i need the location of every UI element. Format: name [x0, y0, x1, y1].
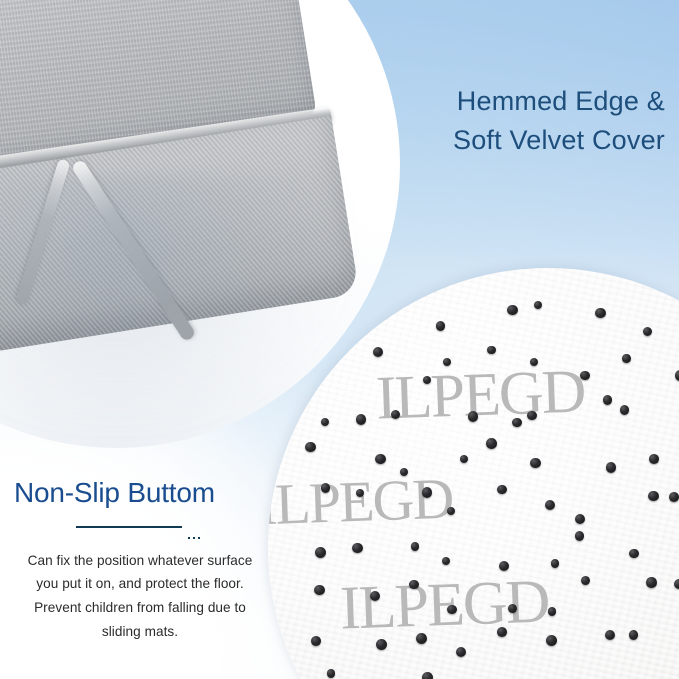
- nonslip-dot: [487, 346, 496, 355]
- nonslip-dot: [507, 305, 518, 316]
- corner-fold-seam-right: [70, 159, 196, 343]
- nonslip-dot: [305, 442, 315, 452]
- nonslip-dot: [530, 358, 539, 367]
- nonslip-dot: [409, 580, 419, 590]
- nonslip-dot: [422, 672, 433, 679]
- nonslip-dot: [375, 454, 386, 465]
- divider-dot: [193, 537, 195, 539]
- nonslip-dot: [356, 414, 367, 425]
- nonslip-dot: [605, 630, 615, 640]
- nonslip-dot: [534, 301, 542, 309]
- feature-body-line: sliding mats.: [14, 620, 266, 644]
- nonslip-dot: [551, 559, 560, 568]
- nonslip-dot: [311, 636, 321, 646]
- nonslip-dot: [314, 585, 325, 596]
- nonslip-dot: [442, 557, 450, 565]
- nonslip-dot: [675, 370, 679, 381]
- nonslip-dot: [447, 605, 456, 614]
- nonslip-dot: [575, 531, 584, 540]
- divider-line: [76, 526, 182, 528]
- divider-dot: [188, 537, 190, 539]
- nonslip-dot: [546, 635, 557, 646]
- nonslip-dot: [575, 514, 585, 524]
- nonslip-dot: [545, 500, 555, 510]
- nonslip-dot: [595, 308, 606, 319]
- nonslip-dot: [460, 455, 468, 463]
- nonslip-dot: [603, 395, 613, 405]
- nonslip-dot: [548, 607, 557, 616]
- nonslip-dot: [422, 487, 432, 497]
- feature-divider: [76, 523, 248, 533]
- nonslip-mat-photo-circle: ILPEGD ILPEGD ILPEGD: [268, 268, 679, 679]
- nonslip-dot: [646, 577, 657, 588]
- nonslip-dot: [530, 458, 541, 469]
- feature-body-line: Prevent children from falling due to: [14, 596, 266, 620]
- nonslip-dot: [486, 438, 497, 449]
- nonslip-dot: [508, 604, 517, 613]
- nonslip-dot: [497, 485, 507, 495]
- nonslip-dot: [376, 639, 387, 650]
- nonslip-dot: [643, 327, 652, 336]
- nonslip-dot: [527, 411, 537, 421]
- nonslip-dot: [620, 405, 630, 415]
- feature-title: Non-Slip Buttom: [14, 478, 266, 509]
- nonslip-dot: [443, 358, 451, 366]
- nonslip-dot: [512, 418, 521, 427]
- nonslip-dot-field: [268, 268, 679, 679]
- nonslip-dot: [315, 547, 326, 558]
- nonslip-dot: [606, 462, 617, 473]
- headline-line-1: Hemmed Edge &: [453, 82, 665, 121]
- nonslip-dot: [411, 542, 420, 551]
- nonslip-dot: [497, 627, 507, 637]
- nonslip-dot: [423, 376, 432, 385]
- headline-line-2: Soft Velvet Cover: [453, 121, 665, 160]
- nonslip-dot: [674, 579, 679, 590]
- nonslip-dot: [327, 669, 336, 678]
- nonslip-dot: [622, 354, 631, 363]
- nonslip-dot: [648, 491, 658, 501]
- feature-body-line: Can fix the position whatever surface: [14, 549, 266, 573]
- nonslip-dot: [581, 576, 590, 585]
- product-infographic: ILPEGD ILPEGD ILPEGD Hemmed Edge & Soft …: [0, 0, 679, 679]
- feature-body-text: Can fix the position whatever surfaceyou…: [14, 549, 266, 644]
- nonslip-dot: [629, 630, 638, 639]
- feature-body-line: you put it on, and protect the floor.: [14, 572, 266, 596]
- nonslip-dot: [456, 647, 466, 657]
- nonslip-dot: [373, 347, 383, 357]
- nonslip-dot: [649, 454, 659, 464]
- headline: Hemmed Edge & Soft Velvet Cover: [453, 82, 665, 161]
- nonslip-dot: [400, 468, 408, 476]
- nonslip-dot: [370, 591, 380, 601]
- nonslip-dot: [447, 507, 455, 515]
- nonslip-dot: [499, 561, 509, 571]
- nonslip-dot: [416, 633, 427, 644]
- divider-dots: [188, 526, 203, 544]
- nonslip-dot: [391, 410, 400, 419]
- corner-fold-seam-left: [15, 158, 70, 305]
- nonslip-dot: [436, 321, 446, 331]
- nonslip-dot: [321, 483, 330, 492]
- nonslip-dot: [580, 371, 590, 381]
- divider-dot: [198, 537, 200, 539]
- nonslip-dot: [629, 549, 638, 558]
- nonslip-dot: [321, 418, 329, 426]
- feature-block: Non-Slip Buttom Can fix the position wha…: [14, 478, 266, 643]
- nonslip-dot: [669, 492, 679, 502]
- nonslip-dot: [356, 489, 365, 498]
- nonslip-dot: [352, 543, 362, 553]
- nonslip-dot: [468, 411, 478, 421]
